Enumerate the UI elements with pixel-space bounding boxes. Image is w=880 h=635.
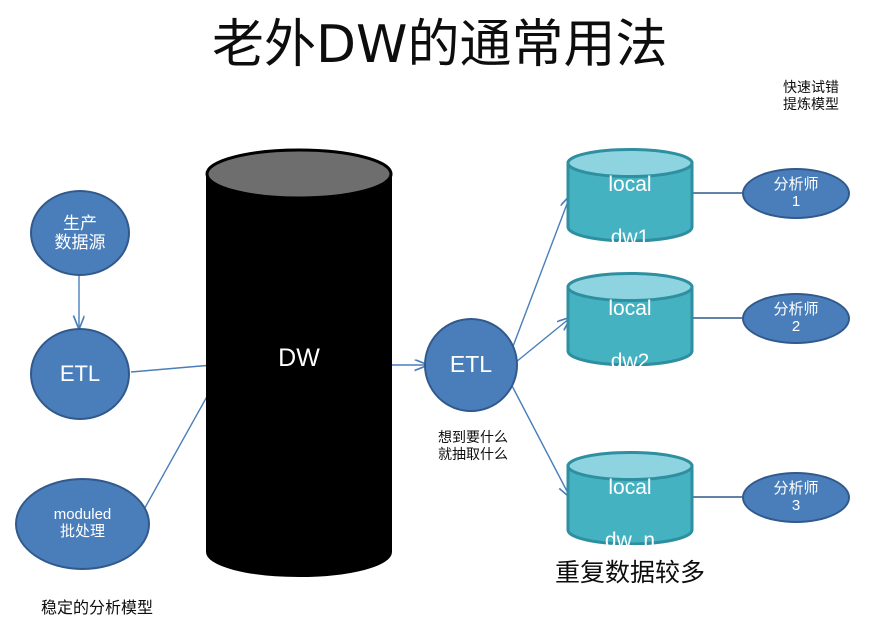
node-source-line1: 生产 <box>63 214 97 233</box>
annotation-top-right: 快速试错 提炼模型 <box>746 80 876 114</box>
node-analyst-2[interactable]: 分析师 2 <box>742 293 850 344</box>
node-etl-mid-label: ETL <box>450 352 492 378</box>
diagram-canvas: 老外DW的通常用法 DW 生产 数据源 ETL moduled 批处理 ETL … <box>0 0 880 635</box>
node-local-dw2-line2: dw2 <box>566 349 694 375</box>
node-source-line2: 数据源 <box>55 233 106 252</box>
node-local-dwn-line1: local <box>566 475 694 501</box>
node-local-dw1-line1: local <box>566 172 694 198</box>
node-source[interactable]: 生产 数据源 <box>30 190 130 276</box>
annotation-bottom-center: 重复数据较多 <box>528 558 732 589</box>
annotation-bottom-left: 稳定的分析模型 <box>12 598 182 618</box>
node-moduled-line1: moduled <box>54 507 112 524</box>
edge-etl-mid-to-local-dw2 <box>516 318 570 362</box>
node-analyst-2-line1: 分析师 <box>773 302 818 319</box>
node-local-dw2[interactable]: local dw2 <box>566 272 694 366</box>
node-analyst-2-line2: 2 <box>792 319 800 336</box>
node-local-dwn[interactable]: local dw_n <box>566 451 694 545</box>
edge-etl-mid-to-local-dw1 <box>512 196 570 349</box>
node-analyst-3-line1: 分析师 <box>773 481 818 498</box>
annotation-etl-mid-caption: 想到要什么 就抽取什么 <box>408 430 538 464</box>
node-local-dwn-line2: dw_n <box>566 528 694 554</box>
node-analyst-3[interactable]: 分析师 3 <box>742 472 850 523</box>
node-local-dw1[interactable]: local dw1 <box>566 148 694 242</box>
node-local-dw1-line2: dw1 <box>566 225 694 251</box>
node-analyst-3-line2: 3 <box>792 498 800 515</box>
node-moduled-line2: 批处理 <box>60 524 105 541</box>
node-etl-mid[interactable]: ETL <box>424 318 518 412</box>
node-analyst-1-line2: 1 <box>792 194 800 211</box>
node-analyst-1[interactable]: 分析师 1 <box>742 168 850 219</box>
node-moduled[interactable]: moduled 批处理 <box>15 478 150 570</box>
node-analyst-1-line1: 分析师 <box>773 177 818 194</box>
dw-cylinder: DW <box>205 148 393 578</box>
node-etl-left-label: ETL <box>60 362 100 387</box>
node-etl-left[interactable]: ETL <box>30 328 130 420</box>
dw-label: DW <box>205 344 393 373</box>
page-title: 老外DW的通常用法 <box>212 2 667 77</box>
node-local-dw2-line1: local <box>566 296 694 322</box>
